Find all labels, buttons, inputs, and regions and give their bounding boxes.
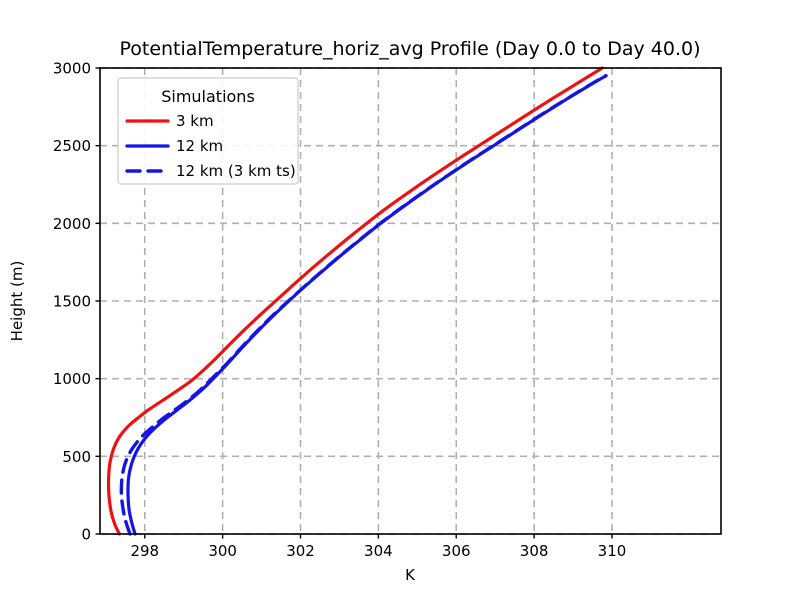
chart-title: PotentialTemperature_horiz_avg Profile (… bbox=[119, 38, 700, 60]
y-axis-label: Height (m) bbox=[8, 261, 26, 342]
x-tick-label: 304 bbox=[364, 542, 393, 560]
x-axis-label: K bbox=[405, 566, 416, 584]
legend[interactable]: Simulations 3 km12 km12 km (3 km ts) bbox=[118, 78, 298, 184]
legend-entry-label: 12 km (3 km ts) bbox=[176, 162, 296, 180]
x-tick-label: 302 bbox=[286, 542, 315, 560]
potential-temperature-profile-chart: 298300302304306308310 050010001500200025… bbox=[0, 0, 800, 600]
legend-title: Simulations bbox=[161, 87, 255, 106]
figure-canvas: 298300302304306308310 050010001500200025… bbox=[0, 0, 800, 600]
x-tick-label: 306 bbox=[442, 542, 471, 560]
x-tick-label: 300 bbox=[208, 542, 237, 560]
x-axis-ticks: 298300302304306308310 bbox=[130, 534, 626, 560]
y-tick-label: 500 bbox=[62, 448, 91, 466]
y-tick-label: 0 bbox=[81, 526, 91, 544]
y-tick-label: 2000 bbox=[53, 215, 91, 233]
x-tick-label: 298 bbox=[130, 542, 159, 560]
y-tick-label: 2500 bbox=[53, 137, 91, 155]
x-tick-label: 308 bbox=[520, 542, 549, 560]
y-tick-label: 3000 bbox=[53, 60, 91, 78]
x-tick-label: 310 bbox=[598, 542, 627, 560]
legend-entry-label: 12 km bbox=[176, 137, 223, 155]
y-tick-label: 1000 bbox=[53, 370, 91, 388]
y-tick-label: 1500 bbox=[53, 293, 91, 311]
legend-entry-label: 3 km bbox=[176, 112, 214, 130]
y-axis-ticks: 050010001500200025003000 bbox=[53, 60, 100, 544]
